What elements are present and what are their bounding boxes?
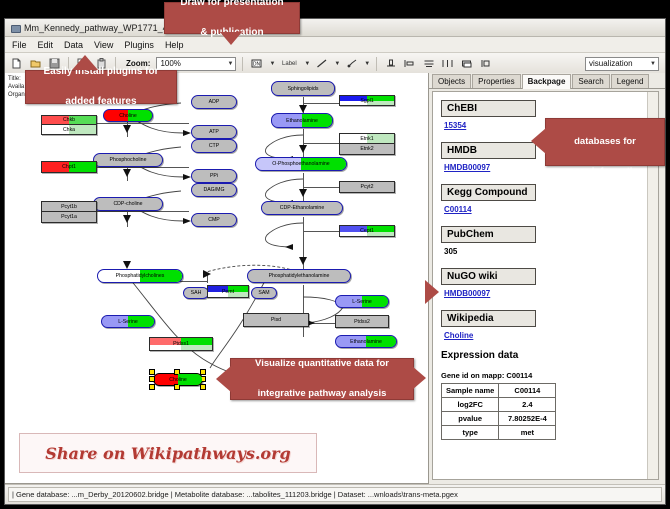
node-label: Choline (119, 113, 137, 119)
metabolite-o-phosphoethanolamine[interactable]: O-Phosphoethanolamine (255, 157, 347, 171)
toolbar-separator-4 (376, 57, 377, 71)
metabolite-ethanolamine-right[interactable]: Ethanolamine (335, 335, 397, 348)
chevron-down-icon: ▼ (227, 61, 233, 67)
menu-bar: File Edit Data View Plugins Help (5, 37, 665, 53)
callout-visualize: Visualize quantitative data for integrat… (230, 358, 414, 400)
label-dropdown-icon[interactable]: ▼ (304, 61, 310, 67)
gene-etnk1[interactable]: Etnk1 (339, 133, 395, 144)
order-icon[interactable] (478, 56, 493, 71)
node-label: Phosphatidylethanolamine (269, 273, 330, 279)
screenshot-root: Mm_Kennedy_pathway_WP1771_45176.gpml Fil… (0, 0, 670, 509)
callout-visualize-line2: integrative pathway analysis (249, 385, 395, 403)
anchor-dropdown-icon[interactable]: ▼ (364, 61, 370, 67)
node-label: PPi (210, 173, 218, 179)
section-header-wikipedia: Wikipedia (441, 310, 536, 327)
node-label: Etnk1 (360, 136, 373, 142)
label-icon[interactable]: Label (279, 56, 299, 71)
node-label: Pcyt2 (361, 184, 374, 190)
table-row: log2FC 2.4 (442, 398, 556, 412)
cell-label: log2FC (442, 398, 499, 412)
node-label: Chpt1 (62, 164, 76, 170)
gene-chka[interactable]: Chka (41, 125, 97, 135)
cell-label: pvalue (442, 412, 499, 426)
menu-item-data[interactable]: Data (63, 40, 84, 50)
title-bar: Mm_Kennedy_pathway_WP1771_45176.gpml (5, 19, 665, 37)
node-label: L-Serine (118, 319, 138, 325)
metabolite-sah[interactable]: SAH (183, 287, 209, 299)
metabolite-phosphatidylcholines[interactable]: Phosphatidylcholines (97, 269, 183, 283)
node-label: Sgpl1 (360, 98, 373, 104)
node-label: Phosphocholine (110, 157, 147, 163)
selection-group[interactable]: Choline (149, 369, 207, 389)
node-label: CTP (209, 143, 219, 149)
node-label: Pisd (271, 317, 281, 323)
tab-properties[interactable]: Properties (472, 74, 520, 88)
node-label: Choline (169, 377, 187, 383)
callout-plugins: Easily install plugins for added feature… (25, 70, 177, 104)
node-label: Ptdss1 (173, 341, 189, 347)
gene-chkb[interactable]: Chkb (41, 115, 97, 125)
value-pubchem: 305 (444, 247, 644, 256)
callout-visualize-arrow-right (412, 366, 426, 390)
group-icon[interactable] (459, 56, 474, 71)
metabolite-ppi[interactable]: PPi (191, 169, 237, 183)
link-kegg[interactable]: C00114 (444, 205, 644, 214)
node-label: Ptdss2 (354, 319, 370, 325)
share-banner: Share on Wikipathways.org (19, 433, 317, 473)
gene-etnk2[interactable]: Etnk2 (339, 144, 395, 155)
metabolite-phosphocholine[interactable]: Phosphocholine (93, 153, 163, 167)
gene-pcyt2[interactable]: Pcyt2 (339, 181, 395, 193)
callout-link-arrow-inner (425, 280, 439, 304)
cell-value: 7.80252E-4 (499, 412, 556, 426)
expression-data-heading: Expression data (441, 350, 644, 361)
toolbar-separator-3 (242, 57, 243, 71)
node-label: Pcyt1a (61, 214, 77, 220)
gene-pisd[interactable]: Pisd (243, 313, 309, 327)
tab-backpage[interactable]: Backpage (522, 74, 572, 89)
anchor-line-icon[interactable] (344, 56, 359, 71)
line-icon[interactable] (314, 56, 329, 71)
gene-cept1[interactable]: Cept1 (339, 225, 395, 237)
link-wikipedia[interactable]: Choline (444, 331, 644, 340)
line-dropdown-icon[interactable]: ▼ (334, 61, 340, 67)
datanode-icon[interactable]: DN (249, 56, 264, 71)
callout-link: Link to external databases for more info… (545, 118, 665, 166)
menu-item-file[interactable]: File (11, 40, 28, 50)
node-label: DAG/MG (203, 187, 224, 193)
link-nugo[interactable]: HMDB00097 (444, 289, 644, 298)
visualization-combo[interactable]: visualization ▼ (585, 57, 659, 71)
svg-text:DN: DN (253, 62, 261, 68)
gene-pcyt1b[interactable]: Pcyt1b (41, 201, 97, 212)
stack-vertical-icon[interactable] (421, 56, 436, 71)
cell-value: 2.4 (499, 398, 556, 412)
menu-item-view[interactable]: View (93, 40, 114, 50)
cell-label: Sample name (442, 384, 499, 398)
metabolite-adp[interactable]: ADP (191, 95, 237, 109)
metabolite-atp[interactable]: ATP (191, 125, 237, 139)
node-label: CDP-choline (113, 201, 142, 207)
node-label: Etnk2 (360, 146, 373, 152)
callout-plugins-line2: added features (37, 93, 164, 111)
node-label: L-Serine (352, 299, 372, 305)
gene-pcyt1a[interactable]: Pcyt1a (41, 212, 97, 223)
callout-link-line2: databases for (560, 133, 650, 151)
node-label: SAM (258, 290, 269, 296)
metabolite-l-serine-left[interactable]: L-Serine (101, 315, 155, 328)
new-file-icon[interactable] (9, 56, 24, 71)
callout-plugins-arrow (72, 55, 98, 70)
callout-visualize-line1: Visualize quantitative data for (249, 355, 395, 373)
node-label: Ethanolamine (286, 118, 318, 124)
gene-ptdss2[interactable]: Ptdss2 (335, 315, 389, 328)
align-left-icon[interactable] (402, 56, 417, 71)
status-text: | Gene database: ...m_Derby_20120602.bri… (8, 487, 662, 502)
metabolite-phosphatidylethanolamine[interactable]: Phosphatidylethanolamine (247, 269, 351, 283)
callout-draw-line1: Draw for presentation (174, 0, 289, 12)
node-label: Ethanolamine (350, 339, 382, 345)
menu-item-plugins[interactable]: Plugins (123, 40, 155, 50)
callout-draw-arrow (220, 32, 242, 45)
cell-value: C00114 (499, 384, 556, 398)
selection-handle-sw[interactable] (149, 384, 155, 390)
node-label: SAH (191, 290, 202, 296)
tab-objects[interactable]: Objects (432, 74, 471, 88)
gene-chpt1[interactable]: Chpt1 (41, 161, 97, 173)
node-label: ADP (209, 99, 220, 105)
node-label: Chkb (63, 117, 75, 123)
table-row: pvalue 7.80252E-4 (442, 412, 556, 426)
cell-value: met (499, 426, 556, 440)
node-label: CDP-Ethanolamine (280, 205, 324, 211)
section-header-chebi: ChEBI (441, 100, 536, 117)
node-label: Cept1 (360, 228, 374, 234)
node-label: ATP (209, 129, 219, 135)
status-bar: | Gene database: ...m_Derby_20120602.bri… (5, 484, 665, 504)
node-label: Pemt (222, 289, 234, 295)
metabolite-cmp[interactable]: CMP (191, 213, 237, 227)
tab-legend[interactable]: Legend (611, 74, 650, 88)
section-header-hmdb: HMDB (441, 142, 536, 159)
metabolite-l-serine-right[interactable]: L-Serine (335, 295, 389, 308)
metabolite-sphingolipids[interactable]: Sphingolipids (271, 81, 335, 96)
distribute-icon[interactable] (440, 56, 455, 71)
align-top-icon[interactable] (383, 56, 398, 71)
metabolite-sam[interactable]: SAM (251, 287, 277, 299)
datanode-dropdown-icon[interactable]: ▼ (269, 61, 275, 67)
pathvisio-icon (10, 23, 20, 33)
node-label: Phosphatidylcholines (116, 273, 165, 279)
callout-link-arrow (531, 128, 546, 154)
selection-handle-nw[interactable] (149, 369, 155, 375)
node-label: Sphingolipids (288, 86, 319, 92)
callout-visualize-arrow-left (216, 366, 231, 392)
metabolite-ethanolamine-top[interactable]: Ethanolamine (271, 113, 333, 128)
metabolite-dagmg[interactable]: DAG/MG (191, 183, 237, 197)
cell-label: type (442, 426, 499, 440)
selection-handle-w[interactable] (149, 376, 155, 382)
expression-table: Sample name C00114 log2FC 2.4 pvalue 7.8… (441, 383, 556, 440)
side-pane-tabs: Objects Properties Backpage Search Legen… (429, 73, 665, 89)
callout-plugins-line1: Easily install plugins for (37, 63, 164, 81)
visualization-chevron-down-icon: ▼ (650, 61, 656, 67)
callout-link-line1: Link to external (560, 103, 650, 121)
node-label: Chka (63, 127, 75, 133)
section-header-nugo: NuGO wiki (441, 268, 536, 285)
callout-draw: Draw for presentation & publication (164, 2, 300, 34)
node-label: Pcyt1b (61, 204, 77, 210)
metabolite-cdp-choline[interactable]: CDP-choline (93, 197, 163, 211)
gene-id-on-mapp: Gene id on mapp: C00114 (441, 371, 644, 380)
section-header-kegg: Kegg Compound (441, 184, 536, 201)
menu-item-edit[interactable]: Edit (37, 40, 55, 50)
metabolite-cdp-ethanolamine[interactable]: CDP-Ethanolamine (261, 201, 343, 215)
section-header-pubchem: PubChem (441, 226, 536, 243)
table-row: Sample name C00114 (442, 384, 556, 398)
metabolite-ctp[interactable]: CTP (191, 139, 237, 153)
metabolite-choline-selected[interactable]: Choline (153, 373, 203, 386)
visualization-value: visualization (589, 59, 633, 68)
callout-link-line3: more information (560, 163, 650, 181)
gene-ptdss1[interactable]: Ptdss1 (149, 337, 213, 351)
node-label: CMP (208, 217, 220, 223)
pathway-canvas[interactable]: Title: Availa Organ (5, 73, 429, 484)
node-label: O-Phosphoethanolamine (272, 161, 329, 167)
gene-pemt[interactable]: Pemt (207, 285, 249, 298)
gene-sgpl1[interactable]: Sgpl1 (339, 95, 395, 106)
tab-search[interactable]: Search (572, 74, 609, 88)
share-banner-text: Share on Wikipathways.org (45, 444, 290, 463)
table-row: type met (442, 426, 556, 440)
